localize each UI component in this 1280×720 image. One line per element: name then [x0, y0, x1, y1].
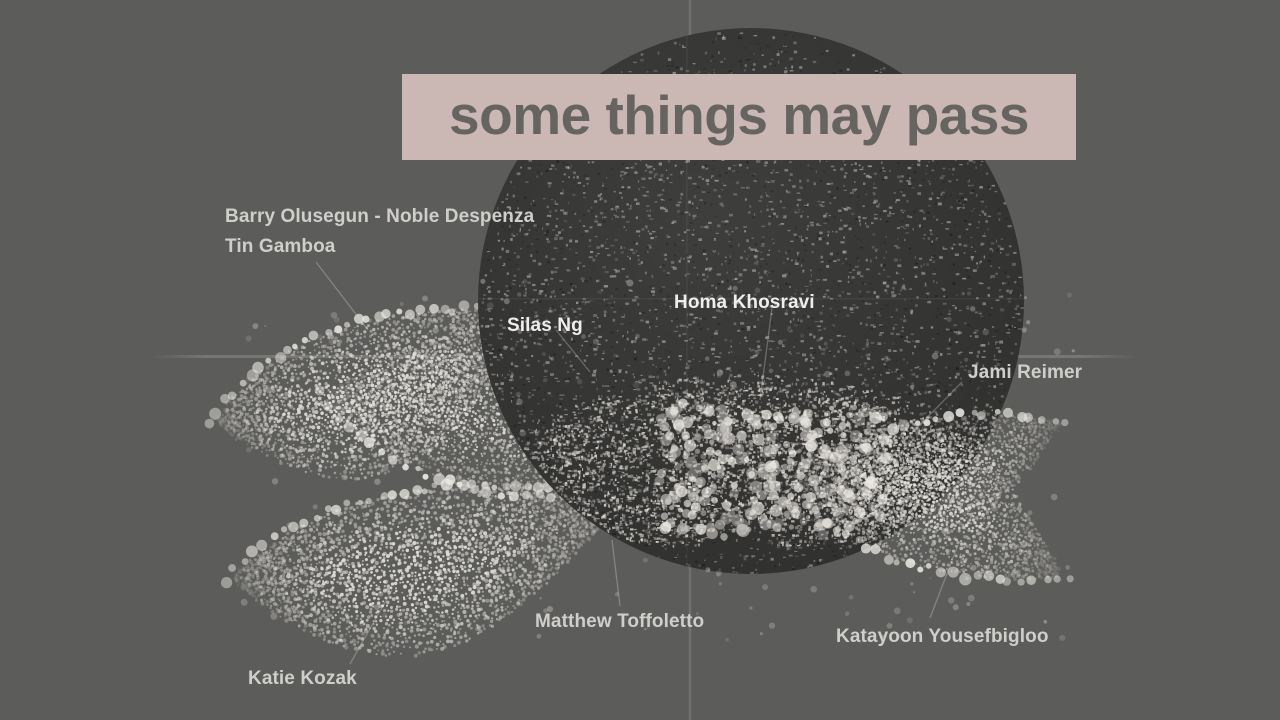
credit-label-silas-ng: Silas Ng: [507, 313, 583, 340]
credit-label-jami-reimer: Jami Reimer: [968, 360, 1082, 387]
title-text: some things may pass: [449, 88, 1029, 147]
title-banner: some things may pass: [402, 74, 1076, 160]
credit-label-homa-khosravi: Homa Khosravi: [674, 290, 815, 317]
credit-label-katayoon-yousefbigloo: Katayoon Yousefbigloo: [836, 624, 1049, 651]
credit-label-tin-gamboa: Tin Gamboa: [225, 234, 335, 261]
credit-label-barry-olusegun-noble-despenza: Barry Olusegun - Noble Despenza: [225, 204, 534, 231]
slide-canvas: some things may pass Barry Olusegun - No…: [0, 0, 1280, 720]
credit-label-matthew-toffoletto: Matthew Toffoletto: [535, 609, 704, 636]
credit-label-katie-kozak: Katie Kozak: [248, 666, 357, 693]
